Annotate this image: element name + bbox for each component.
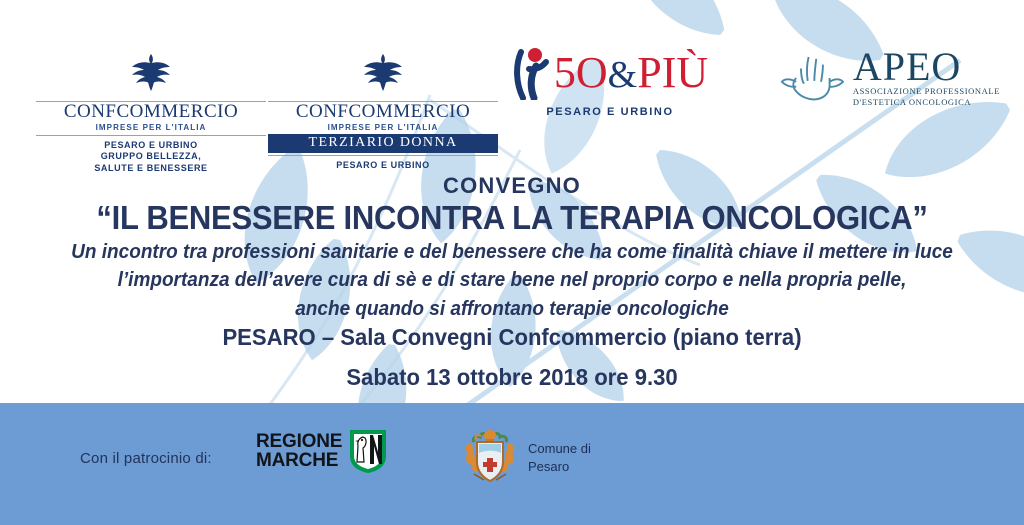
- woodpecker-shield-icon: [348, 428, 388, 474]
- comune-line-2: Pesaro: [528, 458, 591, 476]
- regione-marche-line-1: REGIONE: [256, 432, 342, 451]
- event-description: Un incontro tra professioni sanitarie e …: [26, 238, 999, 323]
- event-headline: “IL BENESSERE INCONTRA LA TERAPIA ONCOLO…: [31, 199, 994, 237]
- logo-cinquanta-e-piu: 5O&PIÙ PESARO E URBINO: [500, 46, 720, 118]
- event-venue: PESARO – Sala Convegni Confcommercio (pi…: [20, 324, 1003, 351]
- logo-confcommercio-pesaro-urbino: CONFCOMMERCIO IMPRESE PER L'ITALIA PESAR…: [36, 52, 266, 174]
- description-line-1: Un incontro tra professioni sanitarie e …: [26, 238, 999, 266]
- confcommercio-wordmark: CONFCOMMERCIO: [268, 102, 498, 121]
- description-line-3: anche quando si affrontano terapie oncol…: [26, 295, 999, 323]
- eagle-emblem-icon: [129, 52, 173, 92]
- comune-pesaro-label: Comune di Pesaro: [528, 440, 591, 475]
- fifty-plus-city: PESARO E URBINO: [500, 106, 720, 118]
- regione-marche-wordmark: REGIONE MARCHE: [256, 432, 342, 470]
- logo-row: CONFCOMMERCIO IMPRESE PER L'ITALIA PESAR…: [0, 0, 1024, 168]
- fifty-plus-wordmark: 5O&PIÙ: [554, 51, 708, 95]
- pesaro-coat-of-arms-icon: [462, 428, 518, 488]
- logo-regione-marche: REGIONE MARCHE: [256, 428, 388, 474]
- piu-word: PIÙ: [637, 48, 708, 97]
- logo-apeo: APEO ASSOCIAZIONE PROFESSIONALE D'ESTETI…: [780, 48, 1000, 108]
- description-line-2: l’importanza dell’avere cura di sè e di …: [26, 266, 999, 294]
- apeo-sub-line-1: ASSOCIAZIONE PROFESSIONALE: [853, 86, 1000, 97]
- ampersand: &: [608, 54, 638, 96]
- confcommercio-city-line-2: GRUPPO BELLEZZA,: [36, 151, 266, 162]
- regione-marche-line-2: MARCHE: [256, 451, 342, 470]
- apeo-wordmark: APEO: [853, 48, 1000, 86]
- logo-comune-di-pesaro: Comune di Pesaro: [462, 428, 591, 488]
- confcommercio-city-line-1: PESARO E URBINO: [268, 160, 498, 171]
- terziario-donna-band: TERZIARIO DONNA: [268, 134, 498, 153]
- patronage-label: Con il patrocinio di:: [80, 450, 212, 467]
- confcommercio-city-line-1: PESARO E URBINO: [36, 140, 266, 151]
- confcommercio-tagline: IMPRESE PER L'ITALIA: [36, 123, 266, 132]
- person-figure-icon: [512, 46, 550, 100]
- poster-canvas: CONFCOMMERCIO IMPRESE PER L'ITALIA PESAR…: [0, 0, 1024, 525]
- fifty-number: 5O: [554, 48, 608, 97]
- event-kicker: CONVEGNO: [0, 173, 1024, 199]
- event-date: Sabato 13 ottobre 2018 ore 9.30: [20, 364, 1003, 391]
- comune-line-1: Comune di: [528, 440, 591, 458]
- logo-confcommercio-terziario-donna: CONFCOMMERCIO IMPRESE PER L'ITALIA TERZI…: [268, 52, 498, 171]
- eagle-emblem-icon: [361, 52, 405, 92]
- confcommercio-wordmark: CONFCOMMERCIO: [36, 102, 266, 121]
- hand-leaf-icon: [780, 48, 845, 108]
- confcommercio-tagline: IMPRESE PER L'ITALIA: [268, 123, 498, 132]
- apeo-sub-line-2: D'ESTETICA ONCOLOGICA: [853, 97, 1000, 108]
